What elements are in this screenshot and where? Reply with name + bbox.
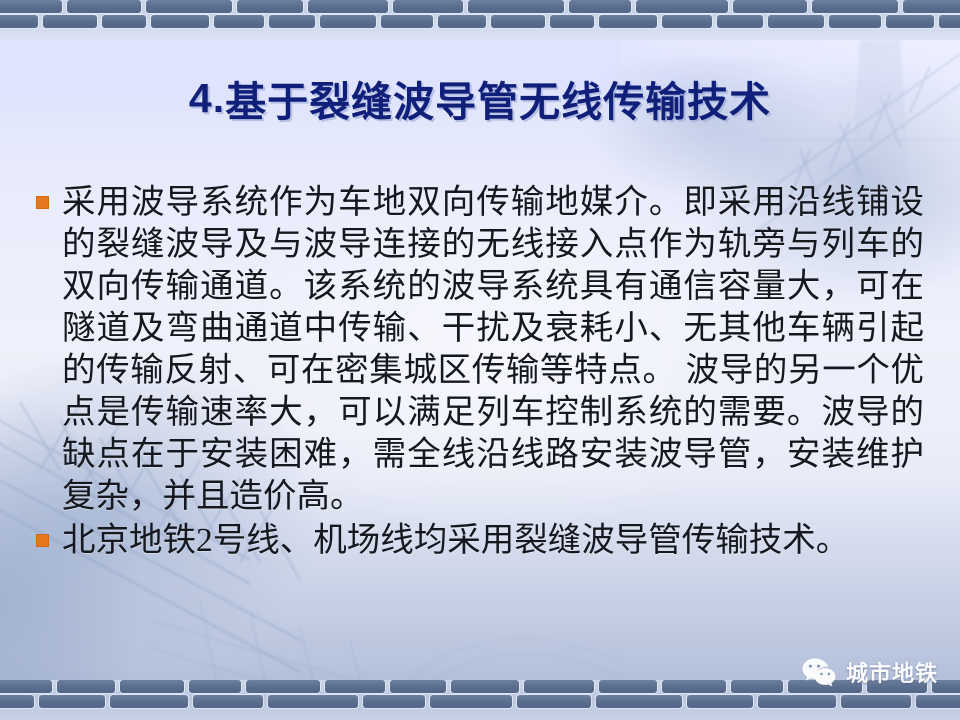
brick — [916, 695, 960, 708]
brick — [102, 15, 146, 28]
brick — [939, 15, 960, 28]
brick — [636, 0, 728, 13]
brick — [189, 680, 241, 693]
watermark-label: 城市地铁 — [846, 656, 938, 688]
brick — [57, 680, 115, 693]
brick — [768, 15, 824, 28]
brick — [829, 15, 881, 28]
brick — [903, 0, 960, 13]
brick — [325, 680, 385, 693]
wechat-icon — [801, 657, 837, 687]
list-item: 北京地铁2号线、机场线均采用裂缝波导管传输技术。 — [36, 520, 924, 562]
brick — [0, 680, 52, 693]
brick — [393, 0, 463, 13]
brick — [246, 680, 320, 693]
list-item: 采用波导系统作为车地双向传输地媒介。即采用沿线铺设的裂缝波导及与波导连接的无线接… — [36, 182, 924, 518]
brick — [599, 15, 657, 28]
brick — [363, 695, 425, 708]
square-bullet-icon — [36, 534, 49, 547]
brick-row — [0, 0, 960, 13]
brick — [0, 15, 38, 28]
brick — [120, 680, 184, 693]
brick — [438, 15, 486, 28]
brick — [43, 15, 97, 28]
brick — [886, 15, 934, 28]
slide-body: 采用波导系统作为车地双向传输地媒介。即采用沿线铺设的裂缝波导及与波导连接的无线接… — [36, 182, 924, 562]
brick — [193, 695, 263, 708]
bullet-paragraph: 北京地铁2号线、机场线均采用裂缝波导管传输技术。 — [62, 520, 924, 562]
top-brick-border — [0, 0, 960, 40]
brick — [146, 0, 232, 13]
brick — [596, 695, 682, 708]
title-text: 基于裂缝波导管无线传输技术 — [225, 68, 771, 128]
brick — [67, 0, 141, 13]
brick — [308, 0, 388, 13]
brick — [517, 695, 591, 708]
brick — [758, 695, 836, 708]
presentation-slide: 4.基于裂缝波导管无线传输技术 采用波导系统作为车地双向传输地媒介。即采用沿线铺… — [0, 0, 960, 720]
brick — [269, 15, 315, 28]
title-number: 4. — [189, 75, 225, 122]
brick — [320, 15, 376, 28]
brick — [451, 680, 519, 693]
brick-row — [0, 15, 960, 28]
watermark: 城市地铁 — [801, 656, 938, 688]
brick-row — [0, 695, 960, 708]
brick — [524, 680, 594, 693]
brick — [491, 15, 545, 28]
bullet-paragraph: 采用波导系统作为车地双向传输地媒介。即采用沿线铺设的裂缝波导及与波导连接的无线接… — [62, 182, 924, 518]
brick — [687, 695, 753, 708]
brick — [662, 15, 712, 28]
brick — [39, 695, 105, 708]
brick — [662, 680, 726, 693]
page-title: 4.基于裂缝波导管无线传输技术 — [0, 67, 960, 129]
square-bullet-icon — [36, 196, 49, 209]
brick — [717, 15, 763, 28]
brick — [430, 695, 512, 708]
brick — [0, 695, 34, 708]
brick — [731, 680, 783, 693]
brick — [381, 15, 433, 28]
brick — [390, 680, 446, 693]
brick — [0, 0, 62, 13]
brick — [110, 695, 188, 708]
brick — [237, 0, 303, 13]
brick — [268, 695, 358, 708]
brick — [550, 15, 594, 28]
brick — [569, 0, 631, 13]
brick — [151, 15, 209, 28]
brick — [841, 695, 911, 708]
brick — [468, 0, 564, 13]
brick — [812, 0, 898, 13]
brick — [599, 680, 657, 693]
brick — [733, 0, 807, 13]
brick — [214, 15, 264, 28]
